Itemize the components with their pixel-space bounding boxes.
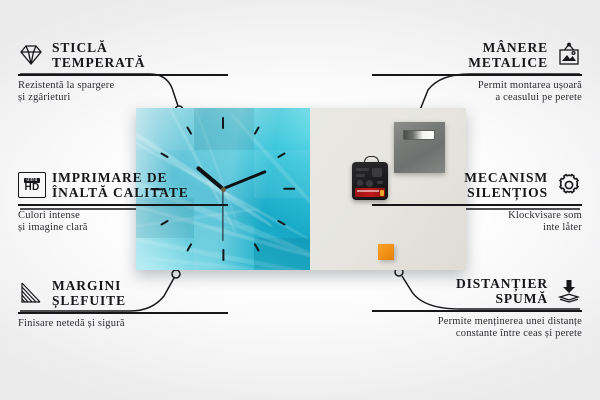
- gear-icon: [556, 172, 582, 198]
- feature-header: MÂNEREMETALICE: [372, 40, 582, 70]
- metal-hanger-plate: [394, 122, 445, 173]
- feature-title: MECANISMSILENȚIOS: [464, 170, 548, 200]
- feature-title: MÂNEREMETALICE: [468, 40, 548, 70]
- feature-title: STICLĂTEMPERATĂ: [52, 40, 145, 70]
- feature-distantier-spuma: DISTANȚIERSPUMĂ Permite menținerea unei …: [372, 276, 582, 341]
- feature-manere-metalice: MÂNEREMETALICE Permit montarea ușoarăa c…: [372, 40, 582, 105]
- ultra-hd-icon: ultra HD: [18, 172, 44, 198]
- feature-sticla-temperata: STICLĂTEMPERATĂ Rezistentă la spargereși…: [18, 40, 228, 105]
- feature-rule: [18, 204, 228, 206]
- feature-subtitle: Rezistentă la spargereși zgârieturi: [18, 80, 228, 105]
- feature-rule: [372, 204, 582, 206]
- feature-subtitle: Permit montarea ușoarăa ceasului pe pere…: [372, 80, 582, 105]
- feature-header: STICLĂTEMPERATĂ: [18, 40, 228, 70]
- node-margini: [172, 270, 180, 278]
- beveled-edge-icon: [18, 280, 44, 306]
- feature-margini-slefuite: MARGINIȘLEFUITE Finisare netedă și sigur…: [18, 278, 228, 330]
- feature-rule: [18, 312, 228, 314]
- mechanism-loop: [364, 156, 379, 166]
- feature-rule: [372, 74, 582, 76]
- feature-imprimare-calitate: ultra HD IMPRIMARE DEÎNALTĂ CALITATE Cul…: [18, 170, 228, 235]
- feature-rule: [372, 310, 582, 312]
- feature-title: IMPRIMARE DEÎNALTĂ CALITATE: [52, 170, 189, 200]
- feature-subtitle: Finisare netedă și sigură: [18, 318, 228, 331]
- picture-hanging-icon: [556, 42, 582, 68]
- feature-subtitle: Klockvisare sominte låter: [372, 210, 582, 235]
- feature-header: MECANISMSILENȚIOS: [372, 170, 582, 200]
- feature-subtitle: Culori intenseși imagine clară: [18, 210, 228, 235]
- feature-subtitle: Permite menținerea unei distanțeconstant…: [372, 316, 582, 341]
- feature-mecanism-silentios: MECANISMSILENȚIOS Klockvisare sominte lå…: [372, 170, 582, 235]
- feature-title: MARGINIȘLEFUITE: [52, 278, 126, 308]
- feature-header: ultra HD IMPRIMARE DEÎNALTĂ CALITATE: [18, 170, 228, 200]
- infographic-canvas: STICLĂTEMPERATĂ Rezistentă la spargereși…: [0, 0, 600, 400]
- hanger-slot: [403, 130, 435, 140]
- feature-title: DISTANȚIERSPUMĂ: [456, 276, 548, 306]
- feature-header: MARGINIȘLEFUITE: [18, 278, 228, 308]
- diamond-icon: [18, 42, 44, 68]
- foam-spacer-icon: [556, 278, 582, 304]
- feature-rule: [18, 74, 228, 76]
- foam-spacer: [378, 244, 394, 260]
- feature-header: DISTANȚIERSPUMĂ: [372, 276, 582, 306]
- minute-hand: [222, 170, 267, 191]
